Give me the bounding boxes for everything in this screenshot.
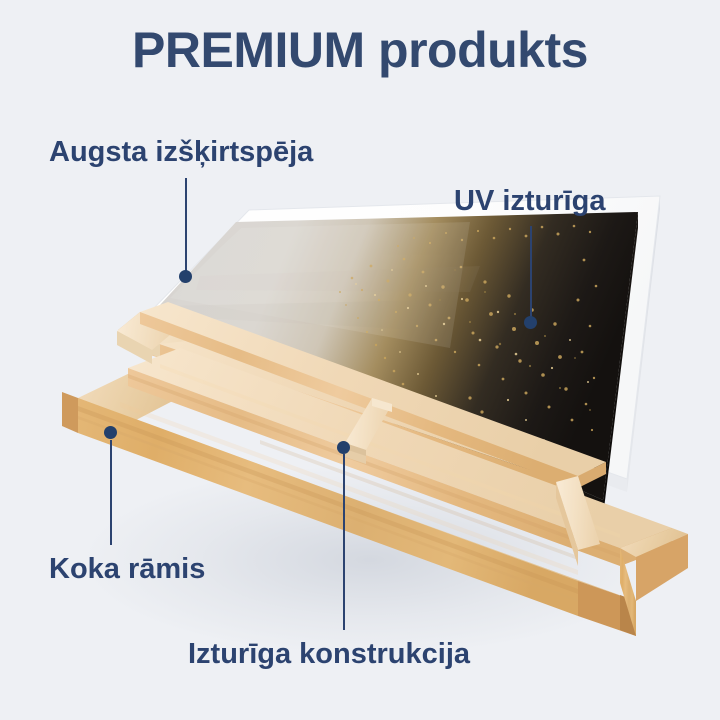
callout-label-uv: UV izturīga <box>454 186 605 218</box>
callout-dot-construction <box>337 441 350 454</box>
callout-leader-frame <box>110 440 112 545</box>
callout-dot-resolution <box>179 270 192 283</box>
callout-label-resolution: Augsta izšķirtspēja <box>49 137 313 169</box>
callout-label-construction: Izturīga konstrukcija <box>188 639 470 671</box>
callout-dot-uv <box>524 316 537 329</box>
callout-label-frame: Koka rāmis <box>49 554 205 586</box>
callout-leader-construction <box>343 454 345 630</box>
page-title: PREMIUM produkts <box>0 22 720 80</box>
callout-leader-resolution <box>185 178 187 278</box>
callout-leader-uv <box>530 226 532 322</box>
product-infographic: PREMIUM produkts Augsta izšķirtspēja UV … <box>0 0 720 720</box>
exploded-canvas-print-diagram <box>0 0 720 720</box>
callout-dot-frame <box>104 426 117 439</box>
